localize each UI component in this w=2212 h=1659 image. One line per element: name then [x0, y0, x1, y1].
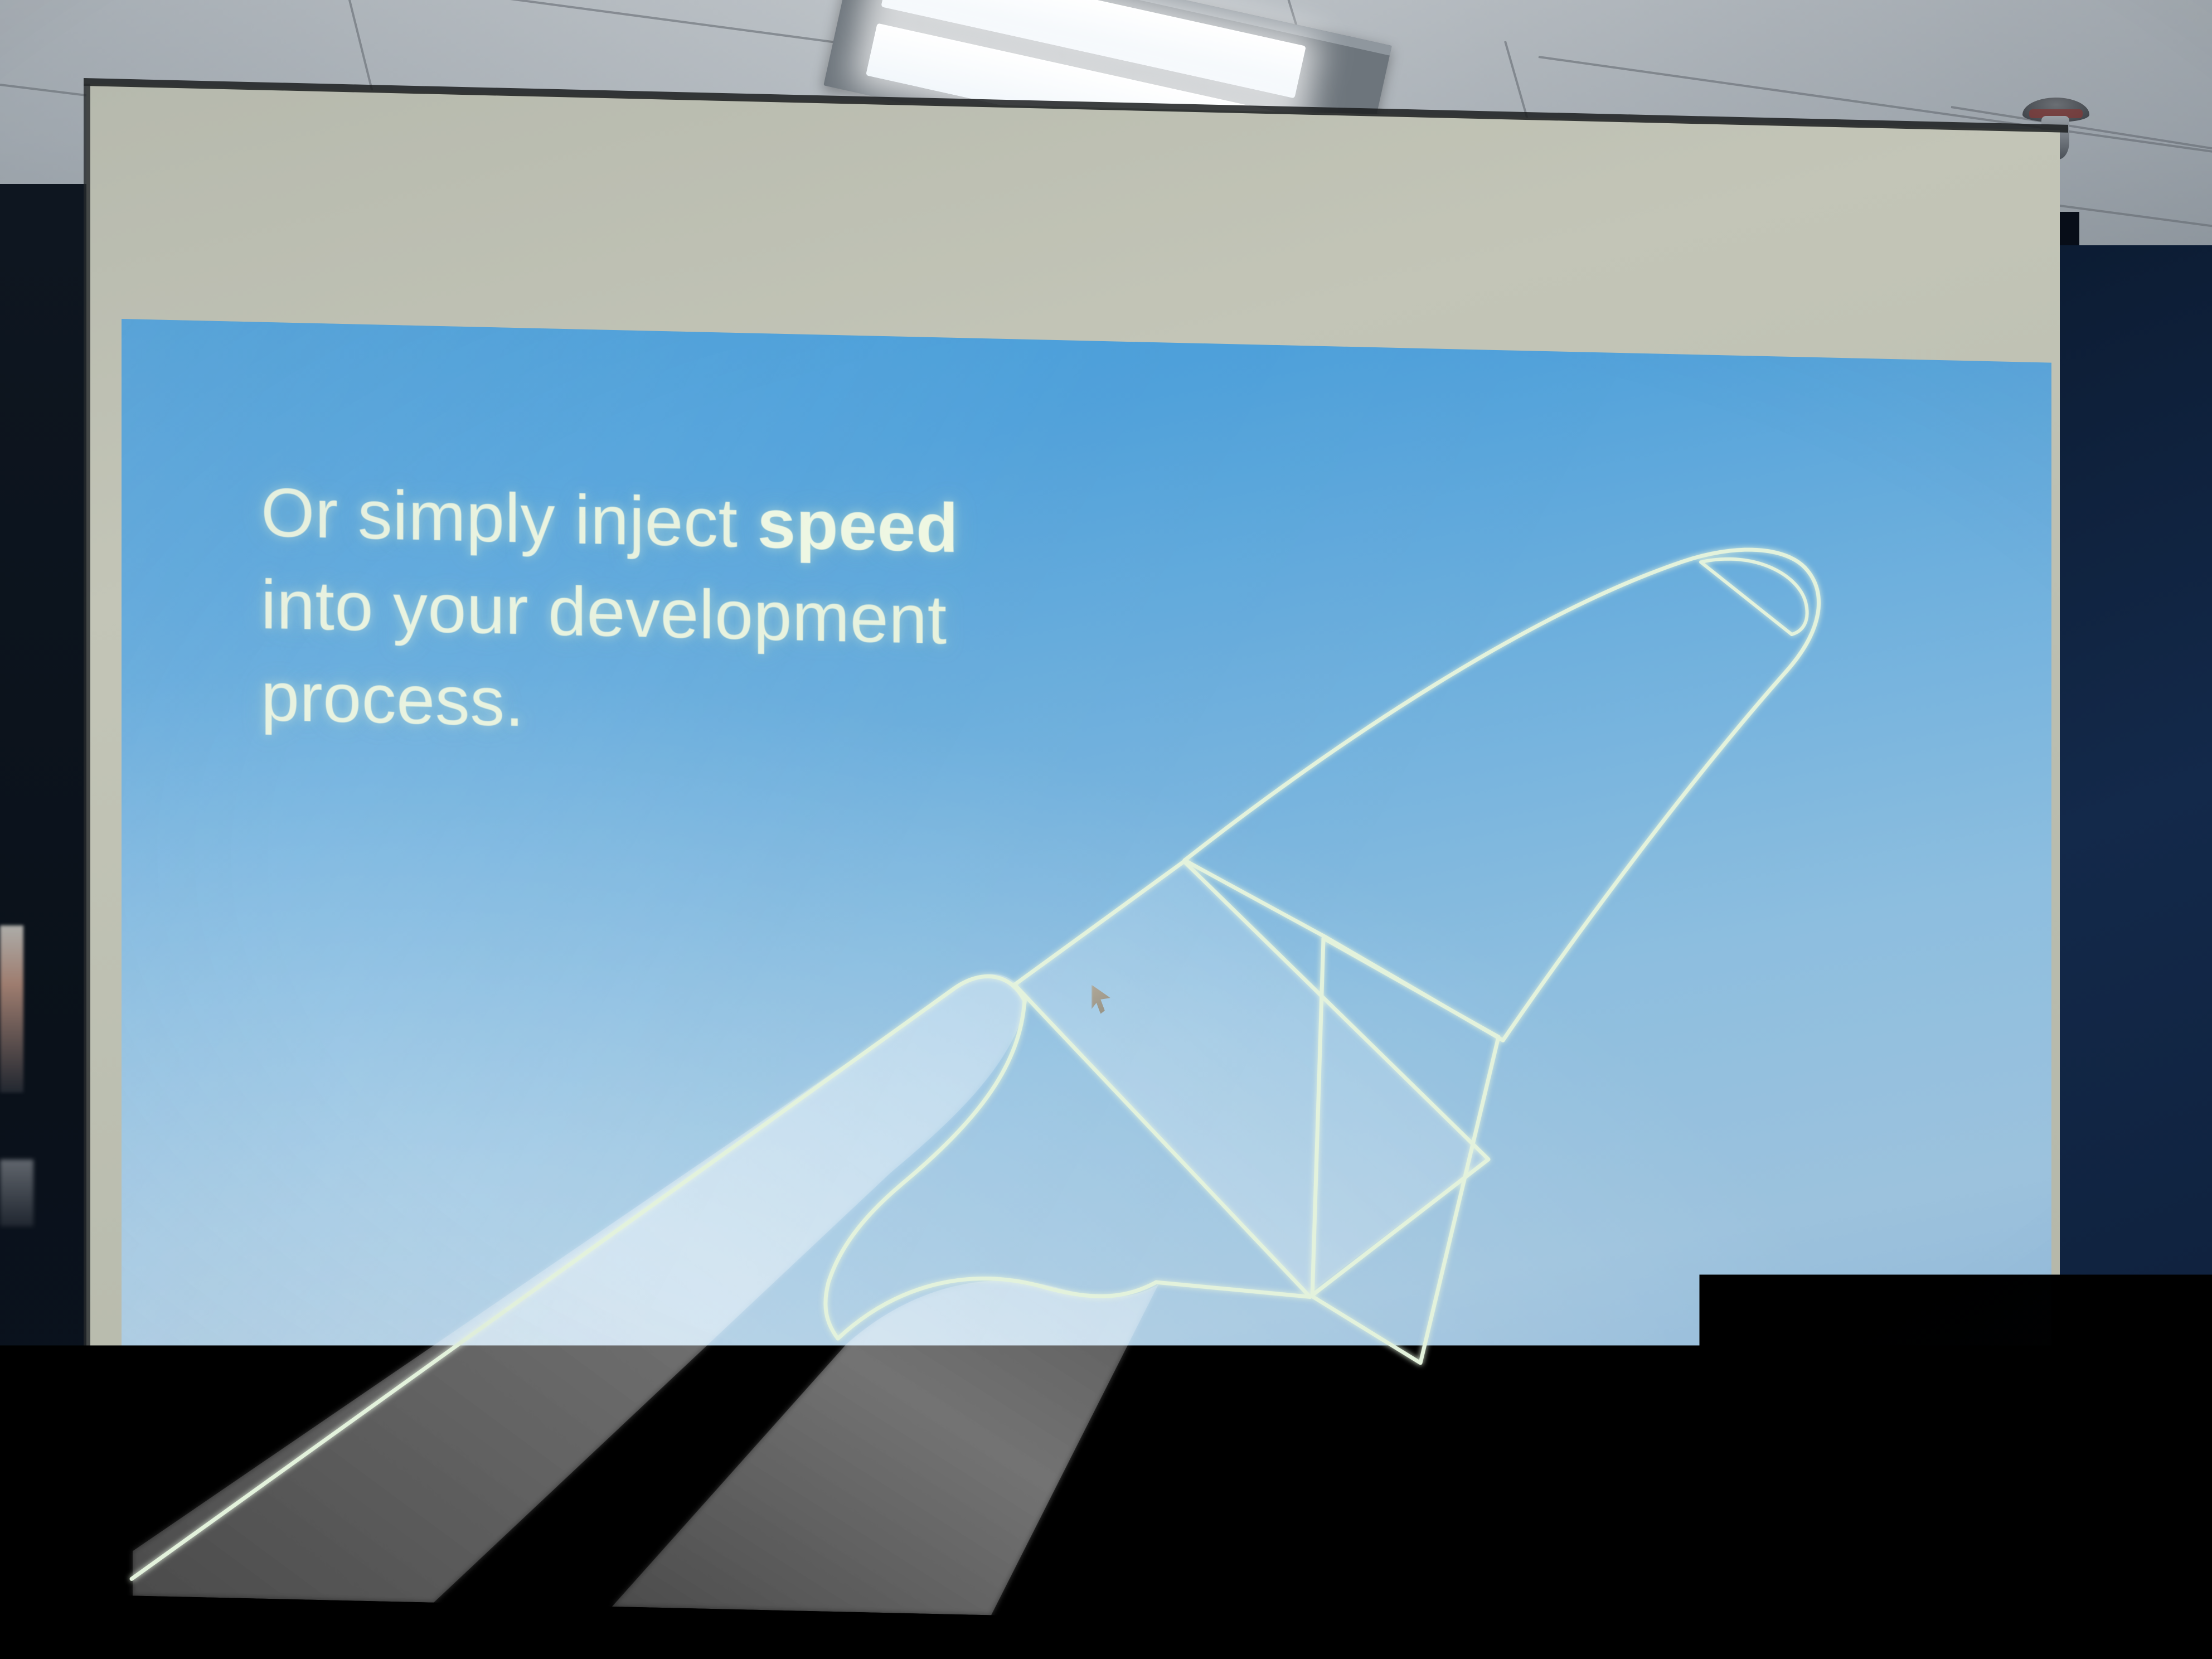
slide-headline: Or simply inject speed into your develop… — [261, 467, 1097, 762]
screen-left-edge — [84, 84, 90, 1659]
slide-headline-line-2: into your development — [261, 559, 1097, 670]
right-wall — [2054, 245, 2212, 1659]
projected-slide: Or simply inject speed into your develop… — [122, 319, 2051, 1639]
rocket-nose-right-edge — [1503, 561, 1819, 1047]
slide-headline-line-3: process. — [261, 651, 1097, 761]
photo-scene: Or simply inject speed into your develop… — [0, 0, 2212, 1659]
rocket-fin-lower-edge — [1156, 1282, 1310, 1297]
rocket-nose-cap — [1701, 559, 1807, 635]
left-wall-object — [0, 925, 23, 1093]
rocket-nose-left-edge — [1185, 537, 1805, 874]
headline-emphasis: speed — [757, 486, 958, 567]
left-wall-object — [0, 1160, 33, 1226]
headline-text-1: Or simply inject — [261, 474, 757, 562]
